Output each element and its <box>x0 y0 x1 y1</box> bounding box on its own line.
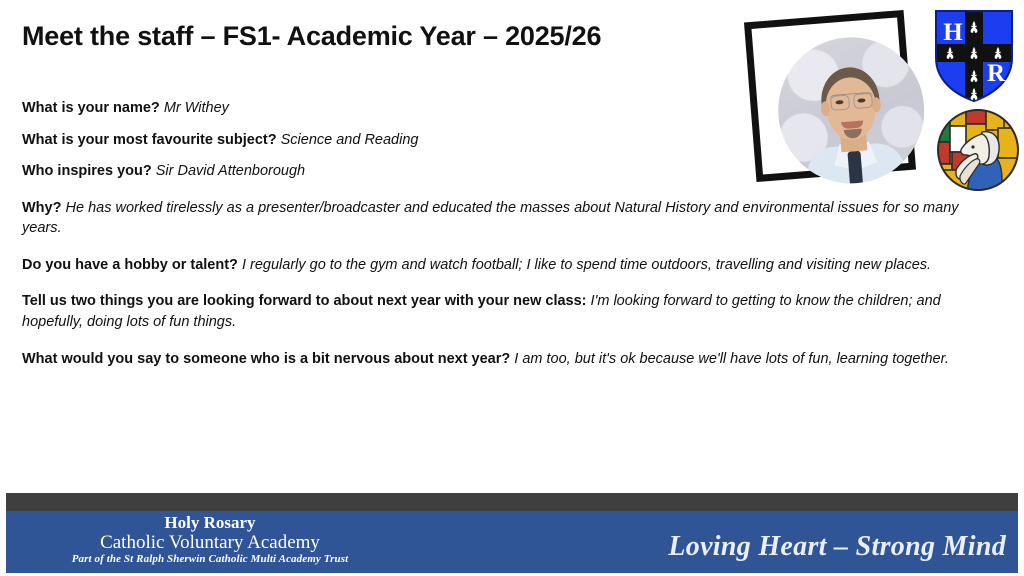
qa-answer: I am too, but it's ok because we'll have… <box>514 351 949 367</box>
qa-question: Do you have a hobby or talent? <box>22 257 238 273</box>
qa-item-next-year: Tell us two things you are looking forwa… <box>22 291 984 332</box>
qa-item-why: Why? He has worked tirelessly as a prese… <box>22 198 984 239</box>
qa-question: Tell us two things you are looking forwa… <box>22 293 587 309</box>
qa-item-hobby: Do you have a hobby or talent? I regular… <box>22 255 984 276</box>
portrait-tie <box>847 151 863 188</box>
qa-answer: Science and Reading <box>281 132 419 148</box>
school-tagline: Loving Heart – Strong Mind <box>668 531 1006 563</box>
staff-photo <box>744 8 920 190</box>
qa-question: What would you say to someone who is a b… <box>22 351 510 367</box>
qa-question: Who inspires you? <box>22 163 152 179</box>
school-crest-icon: H R <box>932 8 1016 104</box>
page-title: Meet the staff – FS1- Academic Year – 20… <box>22 20 722 52</box>
qa-question: What is your most favourite subject? <box>22 132 277 148</box>
slide-canvas: Meet the staff – FS1- Academic Year – 20… <box>0 0 1024 576</box>
school-branding: Holy Rosary Catholic Voluntary Academy P… <box>0 513 420 567</box>
svg-text:R: R <box>987 60 1006 87</box>
qa-answer: Mr Withey <box>164 100 229 116</box>
photo-frame <box>744 10 916 182</box>
qa-answer: Sir David Attenborough <box>156 163 305 179</box>
school-name-line1: Holy Rosary <box>0 513 420 532</box>
trust-name: Part of the St Ralph Sherwin Catholic Mu… <box>0 553 420 567</box>
qa-answer: I regularly go to the gym and watch foot… <box>242 257 931 273</box>
svg-text:H: H <box>943 19 963 46</box>
qa-question: Why? <box>22 200 61 216</box>
footer-dark-bar <box>6 493 1018 511</box>
qa-question: What is your name? <box>22 100 160 116</box>
school-name-line2: Catholic Voluntary Academy <box>0 532 420 553</box>
glasses-icon <box>829 92 874 110</box>
stained-glass-emblem-icon <box>936 108 1020 192</box>
qa-item-nervous: What would you say to someone who is a b… <box>22 349 984 370</box>
portrait-circle <box>773 32 930 189</box>
qa-answer: He has worked tirelessly as a presenter/… <box>22 200 959 237</box>
